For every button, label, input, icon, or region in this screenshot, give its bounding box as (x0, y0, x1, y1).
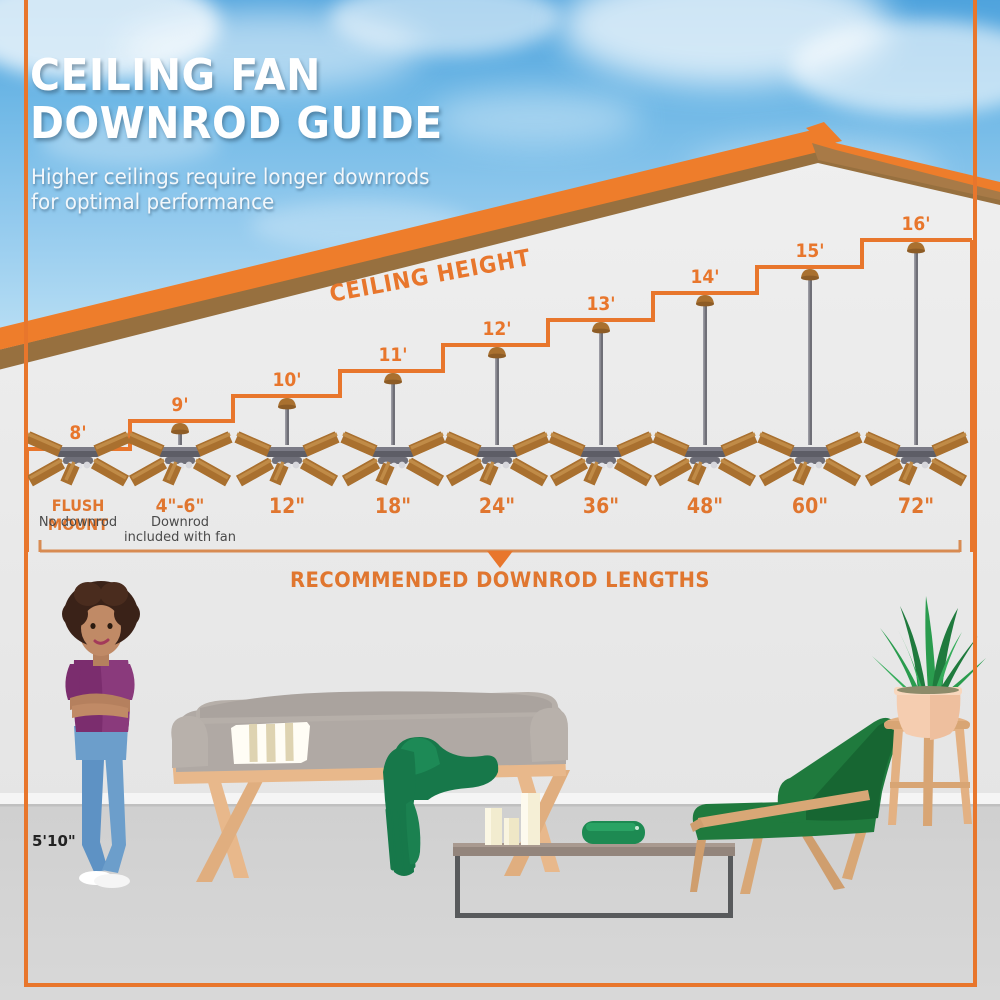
infographic-canvas: CEILING FAN DOWNROD GUIDE Higher ceiling… (0, 0, 1000, 1000)
green-bowl (582, 821, 645, 844)
downrod-sublabel-1: Downrodincluded with fan (115, 515, 245, 545)
downrod-length-label-5: 36" (552, 494, 651, 518)
ceiling-height-label-8: 16' (889, 213, 943, 235)
downrod-length-label-8: 72" (867, 494, 966, 518)
striped-pillow (231, 722, 310, 764)
page-subtitle: Higher ceilings require longer downrodsf… (31, 165, 430, 215)
ceiling-height-label-5: 13' (574, 293, 628, 315)
ceiling-height-label-1: 9' (153, 394, 207, 416)
title-line-1: CEILING FAN (30, 50, 321, 101)
recommended-downrod-axis-label: RECOMMENDED DOWNROD LENGTHS (35, 568, 965, 592)
ceiling-height-label-0: 8' (51, 422, 105, 444)
subtitle-line-2: for optimal performance (31, 190, 430, 215)
downrod-length-label-3: 18" (344, 494, 443, 518)
downrod-length-label-1: 4"-6" (131, 495, 230, 517)
person-height-label: 5'10" (32, 832, 76, 850)
ceiling-height-label-6: 14' (678, 266, 732, 288)
title-line-2: DOWNROD GUIDE (30, 100, 443, 148)
ceiling-height-label-4: 12' (470, 318, 524, 340)
downrod-length-label-7: 60" (761, 494, 860, 518)
ceiling-height-label-2: 10' (260, 369, 314, 391)
downrod-length-label-2: 12" (238, 494, 337, 518)
ceiling-height-label-3: 11' (366, 344, 420, 366)
subtitle-line-1: Higher ceilings require longer downrods (31, 165, 430, 190)
downrod-length-label-6: 48" (656, 494, 755, 518)
ceiling-height-label-7: 15' (783, 240, 837, 262)
page-title: CEILING FAN DOWNROD GUIDE (30, 52, 443, 148)
downrod-length-label-4: 24" (448, 494, 547, 518)
